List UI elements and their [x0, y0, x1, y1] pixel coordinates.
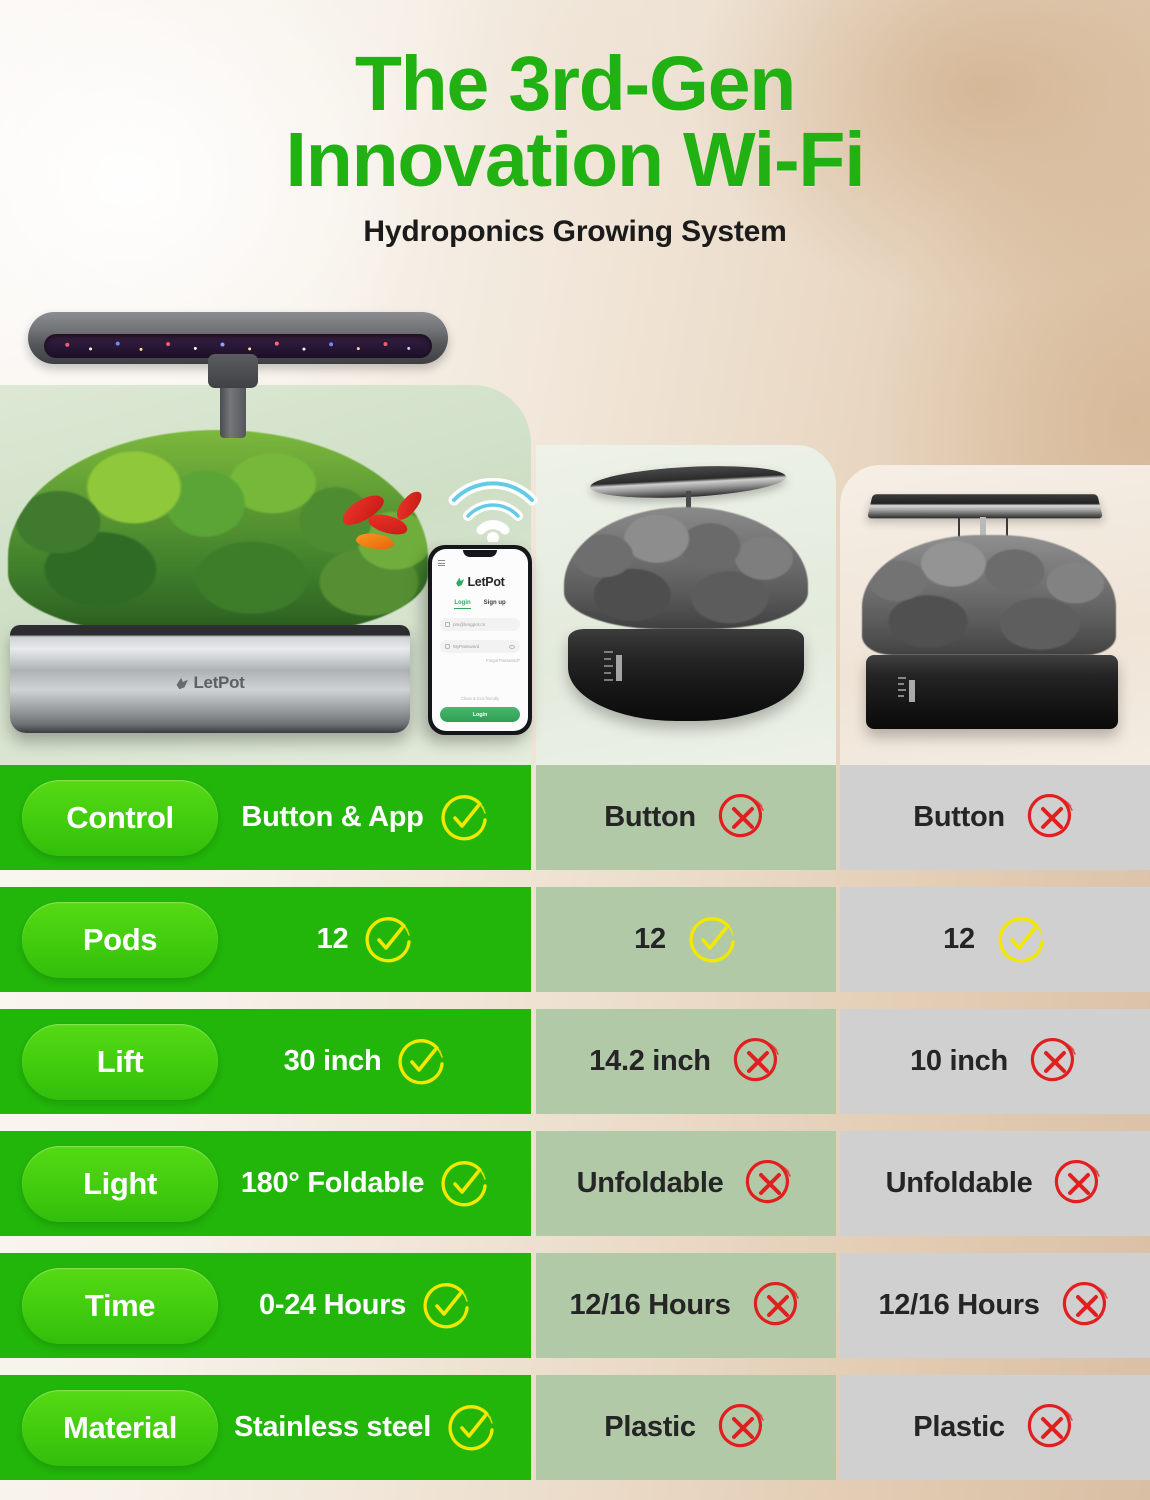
led-clamp: [208, 354, 258, 388]
brand-name: LetPot: [193, 673, 244, 693]
main-product-cell: Light180° Foldable: [0, 1131, 531, 1236]
competitor-2-cell: Unfoldable: [840, 1131, 1150, 1236]
table-row: Light180° FoldableUnfoldableUnfoldable: [0, 1131, 1150, 1236]
main-product-cell: ControlButton & App: [0, 765, 531, 870]
main-product-value: Button & App: [218, 793, 531, 843]
check-icon: [440, 793, 490, 843]
value-text: 10 inch: [910, 1045, 1008, 1078]
product-brand-logo: LetPot: [175, 673, 244, 693]
value-text: 0-24 Hours: [259, 1289, 406, 1322]
value-text: Unfoldable: [886, 1167, 1033, 1200]
competitor-1-cell: 12: [536, 887, 836, 992]
app-auth-tabs: Login Sign up: [454, 600, 505, 609]
check-icon: [397, 1037, 447, 1087]
main-product-cell: MaterialStainless steel: [0, 1375, 531, 1480]
cross-icon: [733, 1037, 783, 1087]
check-icon: [447, 1403, 497, 1453]
main-product-cell: Pods12: [0, 887, 531, 992]
header: The 3rd-Gen Innovation Wi-Fi Hydroponics…: [0, 0, 1150, 249]
competitor-2-cell: 12: [840, 887, 1150, 992]
email-field[interactable]: pm@lengpot.cn: [440, 618, 520, 631]
competitor-1-panel: [536, 445, 836, 765]
competitor-2-control-panel: [898, 675, 920, 707]
competitor-2-cell: 10 inch: [840, 1009, 1150, 1114]
main-product-value: Stainless steel: [218, 1403, 531, 1453]
cross-icon: [1027, 793, 1077, 843]
comparison-table: ControlButton & AppButtonButtonPods12121…: [0, 765, 1150, 1480]
competitor-1-plants: [564, 507, 808, 629]
infographic-page: The 3rd-Gen Innovation Wi-Fi Hydroponics…: [0, 0, 1150, 1500]
competitor-2-panel: [840, 465, 1150, 765]
hamburger-menu-icon[interactable]: [438, 560, 445, 566]
cross-icon: [718, 1403, 768, 1453]
value-text: Button: [913, 801, 1005, 834]
password-field[interactable]: MyPassword: [440, 640, 520, 653]
competitor-2-cell: 12/16 Hours: [840, 1253, 1150, 1358]
forgot-password-link[interactable]: Forgot Password?: [486, 658, 520, 663]
main-product-value: 180° Foldable: [218, 1159, 531, 1209]
cross-icon: [1054, 1159, 1104, 1209]
competitor-1-cell: Button: [536, 765, 836, 870]
check-icon: [422, 1281, 472, 1331]
main-product-base: LetPot: [10, 625, 410, 733]
app-brand-name: LetPot: [467, 575, 504, 589]
value-text: 12/16 Hours: [878, 1289, 1039, 1322]
phone-screen: LetPot Login Sign up pm@lengpot.cn MyPas…: [432, 549, 528, 731]
value-text: Button: [604, 801, 696, 834]
main-product-cell: Time0-24 Hours: [0, 1253, 531, 1358]
phone-mockup: LetPot Login Sign up pm@lengpot.cn MyPas…: [428, 545, 532, 735]
eco-note: Clean & Eco-friendly: [461, 696, 499, 701]
cross-icon: [745, 1159, 795, 1209]
check-icon: [440, 1159, 490, 1209]
main-product-value: 12: [218, 915, 531, 965]
table-row: Lift30 inch14.2 inch10 inch: [0, 1009, 1150, 1114]
table-row: Time0-24 Hours12/16 Hours12/16 Hours: [0, 1253, 1150, 1358]
email-value: pm@lengpot.cn: [453, 622, 485, 627]
value-text: Plastic: [913, 1411, 1004, 1444]
value-text: 14.2 inch: [589, 1045, 710, 1078]
competitor-2-cell: Plastic: [840, 1375, 1150, 1480]
value-text: 12: [943, 923, 975, 956]
app-brand: LetPot: [455, 575, 504, 589]
competitor-2-plants: [862, 535, 1116, 655]
value-text: 180° Foldable: [241, 1167, 424, 1200]
competitor-1-cell: Unfoldable: [536, 1131, 836, 1236]
check-icon: [997, 915, 1047, 965]
password-value: MyPassword: [453, 644, 479, 649]
tab-signup[interactable]: Sign up: [484, 600, 506, 609]
phone-notch: [463, 550, 497, 557]
leaf-icon: [175, 677, 188, 690]
competitor-1-cell: Plastic: [536, 1375, 836, 1480]
competitor-1-control-panel: [604, 649, 628, 687]
value-text: Unfoldable: [577, 1167, 724, 1200]
product-image-band: LetPot Le: [0, 280, 1150, 765]
tab-login[interactable]: Login: [454, 600, 470, 609]
value-text: Stainless steel: [234, 1411, 431, 1444]
competitor-1-cell: 14.2 inch: [536, 1009, 836, 1114]
value-text: Button & App: [241, 801, 423, 834]
page-title-line2: Innovation Wi-Fi: [0, 122, 1150, 198]
cross-icon: [753, 1281, 803, 1331]
check-icon: [364, 915, 414, 965]
feature-label-pill: Control: [22, 780, 218, 856]
cross-icon: [1030, 1037, 1080, 1087]
check-icon: [688, 915, 738, 965]
feature-label-pill: Time: [22, 1268, 218, 1344]
login-button[interactable]: Login: [440, 707, 520, 722]
feature-label-pill: Material: [22, 1390, 218, 1466]
leaf-icon: [455, 577, 464, 587]
feature-label-pill: Lift: [22, 1024, 218, 1100]
value-text: 12: [317, 923, 349, 956]
table-row: MaterialStainless steelPlasticPlastic: [0, 1375, 1150, 1480]
competitor-2-cell: Button: [840, 765, 1150, 870]
envelope-icon: [445, 622, 450, 627]
table-row: ControlButton & AppButtonButton: [0, 765, 1150, 870]
lock-icon: [445, 644, 450, 649]
wifi-icon: [448, 470, 538, 542]
value-text: 12/16 Hours: [569, 1289, 730, 1322]
cross-icon: [718, 793, 768, 843]
feature-label-pill: Pods: [22, 902, 218, 978]
table-row: Pods121212: [0, 887, 1150, 992]
page-title-line1: The 3rd-Gen: [0, 46, 1150, 122]
feature-label-pill: Light: [22, 1146, 218, 1222]
cross-icon: [1062, 1281, 1112, 1331]
value-text: Plastic: [604, 1411, 695, 1444]
competitor-1-cell: 12/16 Hours: [536, 1253, 836, 1358]
page-subtitle: Hydroponics Growing System: [0, 215, 1150, 249]
value-text: 30 inch: [284, 1045, 382, 1078]
main-product-value: 30 inch: [218, 1037, 531, 1087]
value-text: 12: [634, 923, 666, 956]
cross-icon: [1027, 1403, 1077, 1453]
competitor-2-light: [867, 494, 1103, 518]
eye-icon[interactable]: [509, 645, 515, 649]
main-product-value: 0-24 Hours: [218, 1281, 531, 1331]
main-product-cell: Lift30 inch: [0, 1009, 531, 1114]
